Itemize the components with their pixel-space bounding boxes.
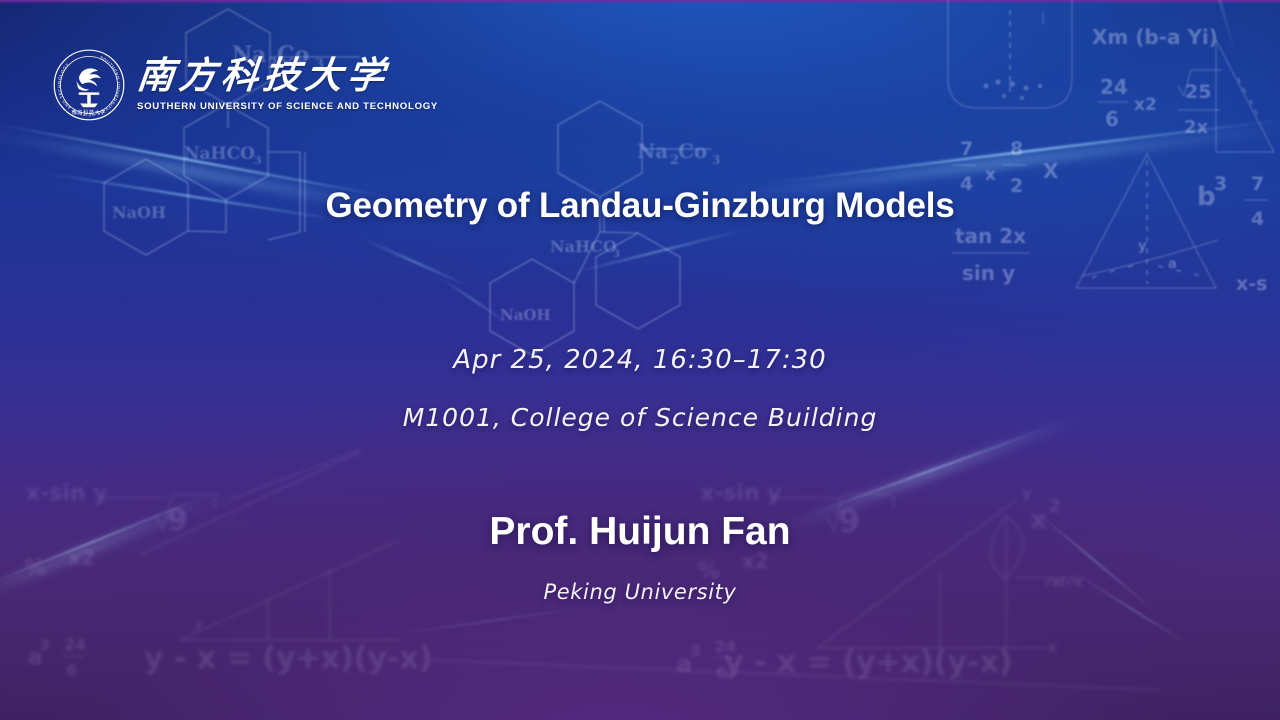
seminar-poster-slide: .ln{ fill:none; stroke:#bcc9f2; stroke-o… (0, 0, 1280, 720)
speaker-name: Prof. Huijun Fan (0, 510, 1280, 554)
event-venue: M1001, College of Science Building (0, 403, 1280, 432)
slide-content: Geometry of Landau-Ginzburg Models Apr 2… (0, 0, 1280, 720)
speaker-affiliation: Peking University (0, 580, 1280, 604)
event-datetime: Apr 25, 2024, 16:30–17:30 (0, 345, 1280, 375)
talk-title: Geometry of Landau-Ginzburg Models (0, 186, 1280, 226)
